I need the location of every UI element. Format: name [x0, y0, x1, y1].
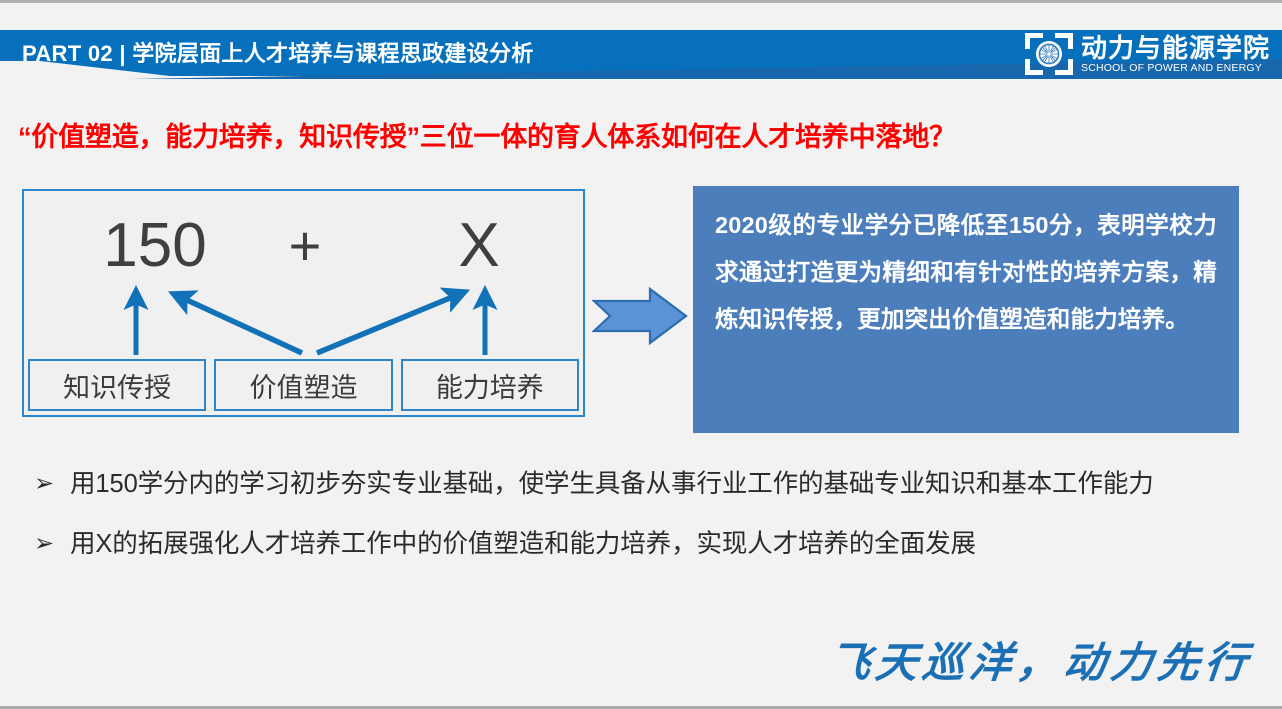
bracket-gear-emblem-icon — [1023, 31, 1075, 77]
concept-box-knowledge[interactable]: 知识传授 — [28, 359, 206, 411]
arrow-center-to-right — [317, 293, 462, 353]
slide-canvas: PART 02 | 学院层面上人才培养与课程思政建设分析 — [0, 0, 1282, 709]
right-block-arrow-icon — [592, 285, 688, 347]
arrow-center-to-left — [176, 295, 302, 353]
logo-name-en: SCHOOL OF POWER AND ENERGY — [1081, 63, 1270, 74]
formula-row: 150 + X — [24, 205, 583, 287]
concept-box-ability[interactable]: 能力培养 — [401, 359, 579, 411]
bullet-list: ➢ 用150学分内的学习初步夯实专业基础，使学生具备从事行业工作的基础专业知识和… — [34, 458, 1256, 578]
concept-label: 知识传授 — [63, 366, 171, 405]
concept-box-row: 知识传授 价值塑造 能力培养 — [28, 359, 579, 411]
list-item-text: 用X的拓展强化人才培养工作中的价值塑造和能力培养，实现人才培养的全面发展 — [70, 518, 1256, 570]
list-item: ➢ 用150学分内的学习初步夯实专业基础，使学生具备从事行业工作的基础专业知识和… — [34, 458, 1256, 510]
formula-term-x: X — [424, 205, 534, 287]
callout-box: 2020级的专业学分已降低至150分，表明学校力求通过打造更为精细和有针对性的培… — [693, 186, 1239, 433]
bullet-arrow-icon: ➢ — [34, 518, 70, 570]
section-heading: “价值塑造，能力培养，知识传授”三位一体的育人体系如何在人才培养中落地？ — [18, 115, 956, 154]
footer-slogan-calligraphy: 飞天巡洋，动力先行 — [826, 629, 1255, 690]
page-title: PART 02 | 学院层面上人才培养与课程思政建设分析 — [22, 36, 534, 68]
callout-text: 2020级的专业学分已降低至150分，表明学校力求通过打造更为精细和有针对性的培… — [715, 202, 1217, 343]
logo-name-cn: 动力与能源学院 — [1081, 35, 1270, 61]
logo-text-block: 动力与能源学院 SCHOOL OF POWER AND ENERGY — [1081, 35, 1270, 74]
diagram-arrows — [24, 281, 583, 363]
bullet-arrow-icon: ➢ — [34, 458, 70, 510]
list-item: ➢ 用X的拓展强化人才培养工作中的价值塑造和能力培养，实现人才培养的全面发展 — [34, 518, 1256, 570]
concept-box-value[interactable]: 价值塑造 — [214, 359, 392, 411]
formula-term-credits: 150 — [80, 205, 230, 287]
concept-label: 价值塑造 — [249, 366, 357, 405]
school-logo: 动力与能源学院 SCHOOL OF POWER AND ENERGY — [1023, 30, 1270, 78]
list-item-text: 用150学分内的学习初步夯实专业基础，使学生具备从事行业工作的基础专业知识和基本… — [70, 458, 1256, 510]
formula-diagram: 150 + X 知识传授 价值塑造 — [22, 189, 585, 417]
formula-operator-plus: + — [260, 205, 350, 287]
concept-label: 能力培养 — [436, 366, 544, 405]
